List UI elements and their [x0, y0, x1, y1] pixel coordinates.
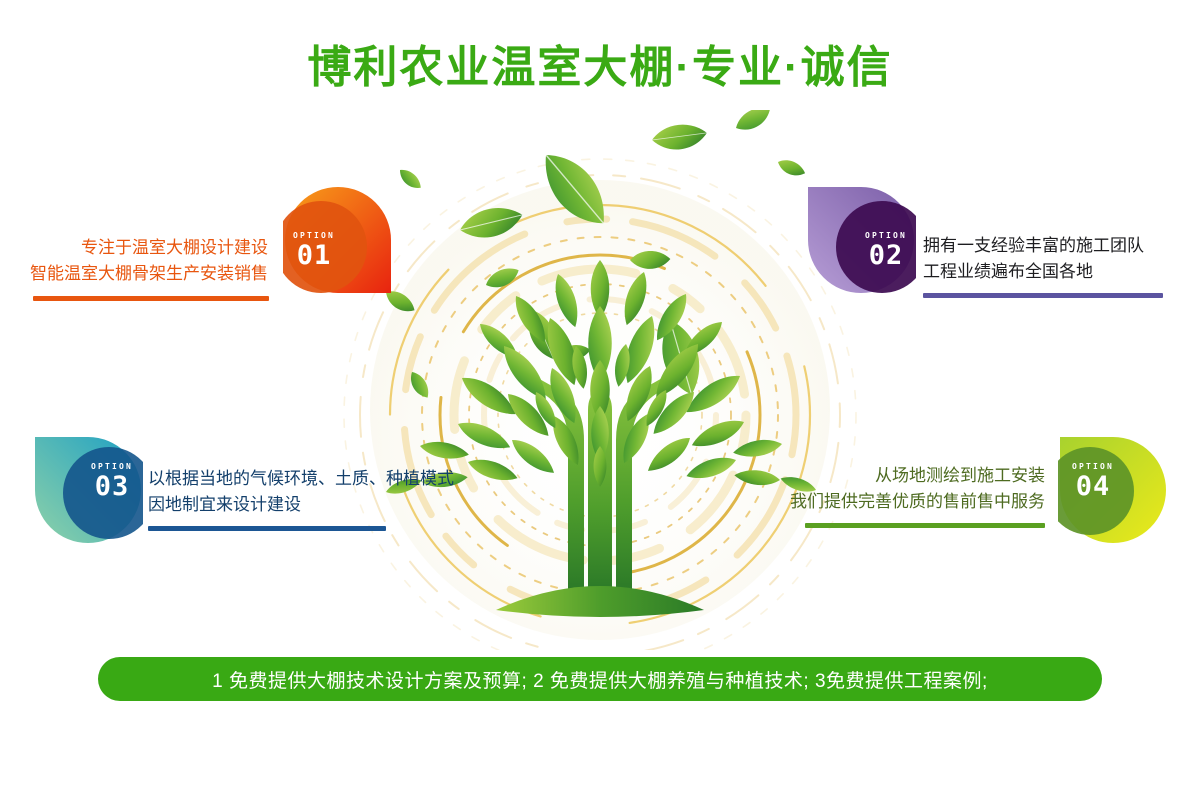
- option-line2-02: 工程业绩遍布全国各地: [923, 259, 1191, 285]
- option-rule-03: [148, 526, 386, 531]
- service-banner-text: 1 免费提供大棚技术设计方案及预算; 2 免费提供大棚养殖与种植技术; 3免费提…: [212, 666, 988, 693]
- option-badge-01: [283, 185, 393, 295]
- service-banner: 1 免费提供大棚技术设计方案及预算; 2 免费提供大棚养殖与种植技术; 3免费提…: [98, 657, 1102, 701]
- option-line1-02: 拥有一支经验丰富的施工团队: [923, 233, 1191, 259]
- option-line2-01: 智能温室大棚骨架生产安装销售: [0, 261, 268, 287]
- option-text-01: 专注于温室大棚设计建设 智能温室大棚骨架生产安装销售: [0, 235, 268, 287]
- option-badge-03: [33, 435, 143, 545]
- page-title: 博利农业温室大棚·专业·诚信: [0, 44, 1200, 92]
- option-line1-03: 以根据当地的气候环境、土质、种植模式: [148, 466, 448, 492]
- option-text-03: 以根据当地的气候环境、土质、种植模式 因地制宜来设计建设: [148, 466, 448, 518]
- option-line2-03: 因地制宜来设计建设: [148, 492, 448, 518]
- option-line2-04: 我们提供完善优质的售前售中服务: [750, 489, 1045, 515]
- option-rule-01: [33, 296, 269, 301]
- option-text-02: 拥有一支经验丰富的施工团队 工程业绩遍布全国各地: [923, 233, 1191, 285]
- option-rule-04: [805, 523, 1045, 528]
- option-line1-04: 从场地测绘到施工安装: [750, 463, 1045, 489]
- infographic-canvas: 博利农业温室大棚·专业·诚信: [0, 0, 1200, 785]
- option-rule-02: [923, 293, 1163, 298]
- option-badge-02: [806, 185, 916, 295]
- option-badge-04: [1058, 435, 1168, 545]
- option-text-04: 从场地测绘到施工安装 我们提供完善优质的售前售中服务: [750, 463, 1045, 515]
- option-line1-01: 专注于温室大棚设计建设: [0, 235, 268, 261]
